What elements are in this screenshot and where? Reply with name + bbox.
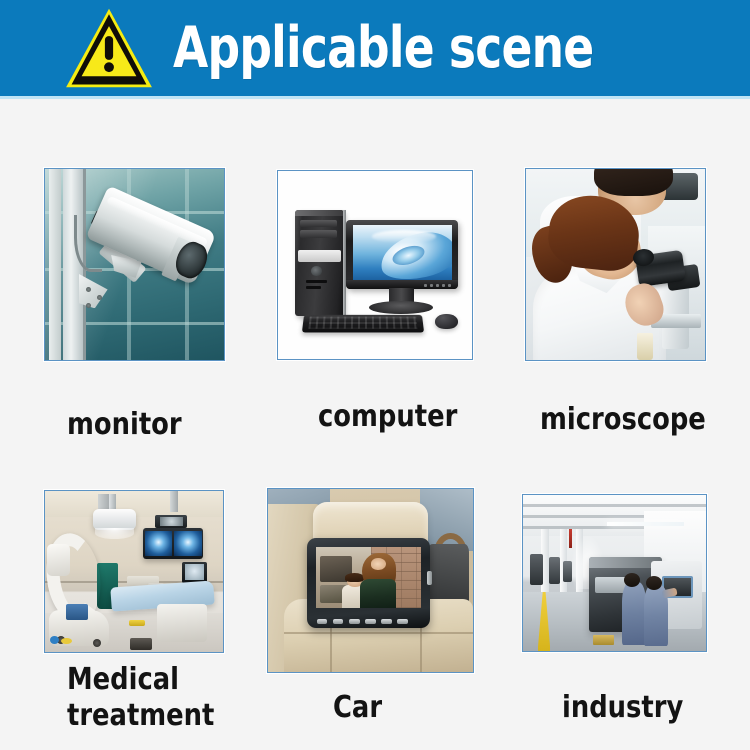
car-headrest-monitor-photo [268,489,473,672]
scene-caption-computer: computer [318,399,507,435]
car-monitor-button-row[interactable] [317,619,408,624]
scene-tile-microscope[interactable] [525,168,706,361]
scene-caption-monitor: monitor [67,407,239,443]
scene-caption-microscope: microscope [540,402,729,438]
page-header-banner: Applicable scene [0,0,750,96]
scene-tile-medical-treatment[interactable] [44,490,224,653]
operating-room-photo [45,491,223,652]
header-underline [0,96,750,99]
car-monitor-side-button[interactable] [427,571,432,585]
factory-floor-photo [523,495,706,651]
applicable-scene-page: Applicable scene monitor [0,0,750,750]
warning-triangle-icon [63,6,155,90]
scene-caption-industry: industry [562,690,725,726]
scene-tile-car[interactable] [267,488,474,673]
scene-caption-medical-treatment: Medical treatment [67,662,248,734]
cctv-camera-photo [45,169,224,360]
page-title: Applicable scene [173,19,593,77]
microscope-lab-photo [526,169,705,360]
scene-tile-industry[interactable] [522,494,707,652]
desktop-computer-photo [278,171,472,359]
scene-caption-car: Car [333,690,471,726]
scene-tile-monitor[interactable] [44,168,225,361]
scene-tile-computer[interactable] [277,170,473,360]
